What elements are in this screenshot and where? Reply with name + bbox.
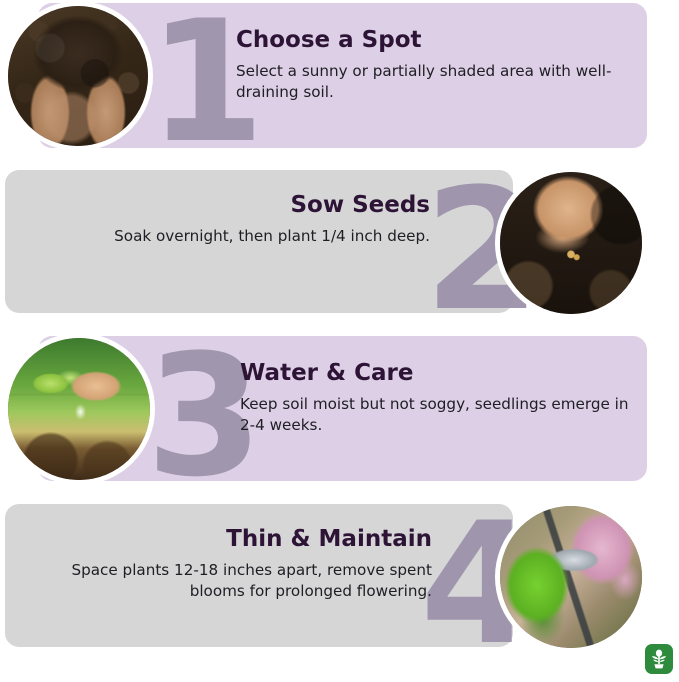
step-image-2 [500, 172, 642, 314]
step-description-3: Keep soil moist but not soggy, seedlings… [240, 394, 640, 437]
watering-seedling-photo [8, 338, 150, 480]
step-image-4 [500, 506, 642, 648]
step-title-1: Choose a Spot [236, 27, 636, 55]
step-title-3: Water & Care [240, 360, 640, 388]
infographic-steps-container: 1 Choose a Spot Select a sunny or partia… [0, 0, 679, 681]
step-text-2: Sow Seeds Soak overnight, then plant 1/4… [20, 192, 430, 247]
step-title-4: Thin & Maintain [14, 526, 432, 554]
gloved-hand-pruning-photo [500, 506, 642, 648]
step-image-1 [8, 6, 148, 146]
step-text-1: Choose a Spot Select a sunny or partiall… [236, 27, 636, 104]
step-description-1: Select a sunny or partially shaded area … [236, 61, 636, 104]
plant-sprout-icon [649, 648, 669, 670]
brand-badge [645, 644, 673, 674]
step-text-4: Thin & Maintain Space plants 12-18 inche… [14, 526, 432, 603]
step-description-4: Space plants 12-18 inches apart, remove … [14, 560, 432, 603]
step-text-3: Water & Care Keep soil moist but not sog… [240, 360, 640, 437]
hand-sowing-seeds-photo [500, 172, 642, 314]
step-image-3 [8, 338, 150, 480]
hands-holding-soil-photo [8, 6, 148, 146]
step-description-2: Soak overnight, then plant 1/4 inch deep… [20, 226, 430, 248]
step-title-2: Sow Seeds [20, 192, 430, 220]
